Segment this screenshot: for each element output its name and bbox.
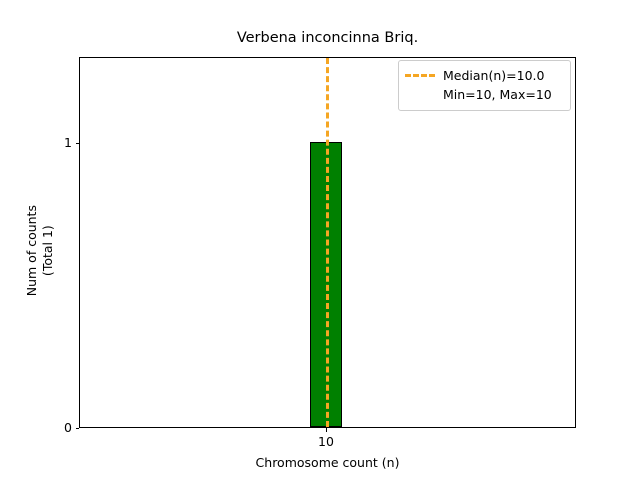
legend-label-minmax: Min=10, Max=10 <box>443 87 552 102</box>
y-tickmark-0 <box>76 428 80 429</box>
y-tickmark-1 <box>76 143 80 144</box>
y-axis-label-line1: Num of counts <box>24 205 39 296</box>
y-axis-label: Num of counts(Total 1) <box>24 65 55 436</box>
y-ticklabel-1: 1 <box>64 135 72 150</box>
page-title: Verbena inconcinna Briq. <box>79 30 576 46</box>
x-axis-label: Chromosome count (n) <box>79 455 576 470</box>
legend-entry-minmax: Min=10, Max=10 <box>405 85 564 104</box>
legend-entry-median: Median(n)=10.0 <box>405 66 564 85</box>
x-tickmark-10 <box>326 428 327 432</box>
blank-marker-icon <box>405 93 435 96</box>
median-line <box>326 58 329 427</box>
legend: Median(n)=10.0 Min=10, Max=10 <box>398 60 571 111</box>
chart-figure: Verbena inconcinna Briq. 0 1 10 Chromoso… <box>0 0 640 480</box>
y-ticklabel-0: 0 <box>64 420 72 435</box>
y-axis-label-line2: (Total 1) <box>40 225 55 276</box>
dashed-line-icon <box>405 74 435 77</box>
x-ticklabel-10: 10 <box>296 434 356 449</box>
plot-area <box>79 57 576 428</box>
legend-label-median: Median(n)=10.0 <box>443 68 544 83</box>
